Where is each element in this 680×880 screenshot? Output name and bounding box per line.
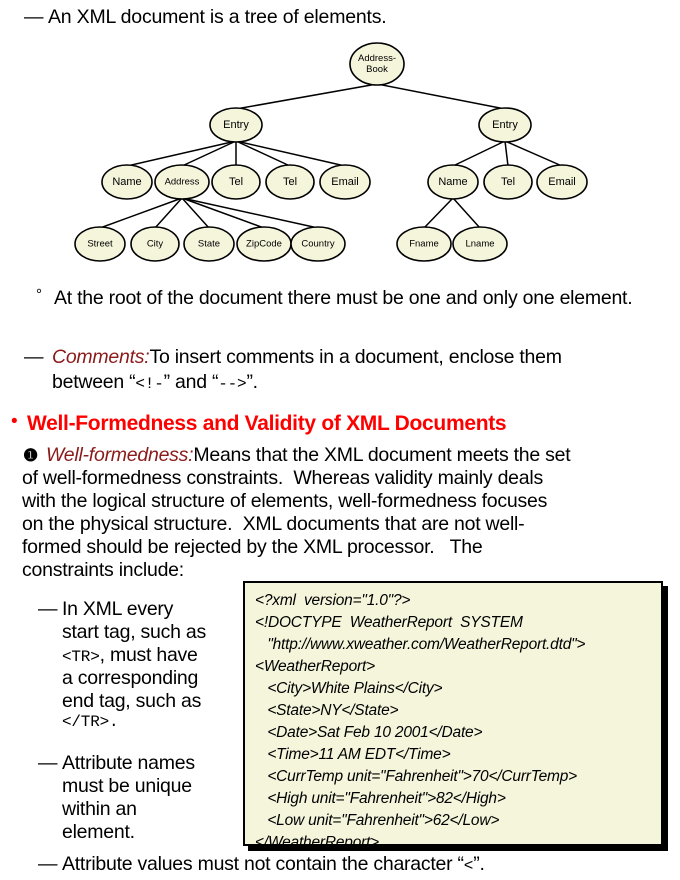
tree-edge	[236, 141, 345, 166]
tree-nodes: Address-BookEntryEntryNameAddressTelTelE…	[75, 43, 587, 261]
final-rule-text-a: Attribute values must not contain the ch…	[62, 853, 464, 875]
tree-node-label: Street	[87, 239, 113, 250]
tree-node-label: Email	[548, 176, 576, 188]
tree-node-tel-right: Tel	[484, 165, 532, 199]
comments-text-2: between “	[52, 371, 135, 393]
well-formedness-label: Well-formedness:	[46, 444, 193, 466]
code-line: <Low unit="Fahrenheit">62</Low>	[255, 810, 655, 832]
constraint-1-line-2: <TR>, must have	[62, 644, 237, 667]
wf-line-4: formed should be rejected by the XML pro…	[22, 536, 676, 559]
disc-bullet-icon: •	[11, 411, 18, 433]
tree-node-label: Address	[165, 177, 200, 188]
wf-line-1: of well-formedness constraints. Whereas …	[22, 467, 676, 490]
comments-text-4: ”.	[246, 371, 257, 393]
tree-node-label: Email	[331, 176, 359, 188]
tree-edge	[453, 198, 480, 228]
well-formedness-paragraph: Well-formedness:Means that the XML docum…	[46, 444, 676, 582]
em-dash-marker-constraint-2: —	[38, 752, 58, 775]
tree-node-street: Street	[75, 227, 125, 261]
final-rule-text-b: ”.	[473, 853, 484, 875]
tree-node-country: Country	[291, 227, 345, 261]
constraint-2-line-3: element.	[62, 821, 237, 844]
tree-edge	[377, 84, 505, 109]
em-dash-marker-final-rule: —	[38, 853, 58, 876]
tree-edge	[236, 141, 290, 166]
code-line: <!DOCTYPE WeatherReport SYSTEM	[255, 612, 655, 634]
tree-node-label: Tel	[501, 176, 515, 188]
xml-tree-diagram: Address-BookEntryEntryNameAddressTelTelE…	[0, 38, 680, 273]
tree-node-entry-left: Entry	[210, 108, 262, 142]
tree-node-entry-right: Entry	[479, 108, 531, 142]
constraint-1-line-4: a corresponding	[62, 667, 237, 690]
start-tag-code: <TR>	[62, 648, 100, 666]
final-rule: Attribute values must not contain the ch…	[62, 853, 485, 876]
tree-node-label: Entry	[223, 119, 249, 131]
tree-edge	[127, 141, 236, 166]
tree-node-label: State	[198, 239, 220, 250]
wf-line-5: constraints include:	[22, 559, 676, 582]
tree-node-lname: Lname	[453, 227, 507, 261]
tree-node-fname: Fname	[397, 227, 451, 261]
code-line: <Time>11 AM EDT</Time>	[255, 744, 655, 766]
constraint-1-line-1: start tag, such as	[62, 621, 237, 644]
em-dash-marker-comments: —	[24, 346, 44, 369]
code-line: <High unit="Fahrenheit">82</High>	[255, 788, 655, 810]
tree-node-label: Tel	[283, 176, 297, 188]
tree-node-state: State	[184, 227, 234, 261]
code-line: <State>NY</State>	[255, 700, 655, 722]
tree-edges	[100, 84, 562, 228]
section-heading: Well-Formedness and Validity of XML Docu…	[27, 412, 506, 436]
tree-edge	[505, 141, 508, 166]
root-rule-text: At the root of the document there must b…	[54, 287, 666, 310]
code-line: <?xml version="1.0"?>	[255, 590, 655, 612]
final-rule-code: <	[464, 857, 473, 875]
wf-line-2: with the logical structure of elements, …	[22, 490, 676, 513]
tree-node-label: Tel	[229, 176, 243, 188]
tree-edge	[182, 141, 236, 166]
tree-node-tel-left-2: Tel	[266, 165, 314, 199]
tree-edge	[505, 141, 562, 166]
tree-node-label: Name	[438, 176, 467, 188]
tree-node-label: Book	[366, 64, 388, 75]
tree-node-name-right: Name	[428, 165, 478, 199]
tree-node-label: ZipCode	[246, 239, 282, 250]
comments-text-3: ” and “	[164, 371, 219, 393]
tree-node-label: Country	[301, 239, 335, 250]
tree-node-label: City	[147, 239, 164, 250]
tree-node-address: Address	[155, 165, 209, 199]
constraint-item-2: Attribute names must be unique within an…	[62, 752, 237, 844]
code-line: <Date>Sat Feb 10 2001</Date>	[255, 722, 655, 744]
code-line: "http://www.xweather.com/WeatherReport.d…	[255, 634, 655, 656]
degree-marker-root-rule: °	[36, 286, 42, 303]
tree-node-label: Address-	[358, 53, 396, 64]
em-dash-marker-constraint-1: —	[38, 598, 58, 621]
tree-node-label: Lname	[465, 239, 494, 250]
constraint-1-line-5: end tag, such as	[62, 690, 237, 713]
tree-edge	[424, 198, 453, 228]
constraint-1-line-3: , must have	[100, 644, 198, 666]
wf-line-0: Means that the XML document meets the se…	[193, 444, 570, 466]
code-line: </WeatherReport>	[255, 832, 655, 854]
tree-edge	[236, 84, 377, 109]
code-box-content: <?xml version="1.0"?><!DOCTYPE WeatherRe…	[245, 583, 661, 858]
tree-node-zipcode: ZipCode	[237, 227, 291, 261]
tree-node-tel-left-1: Tel	[212, 165, 260, 199]
tree-node-name-left: Name	[102, 165, 152, 199]
tree-node-email-right: Email	[537, 165, 587, 199]
xml-example-code-box: <?xml version="1.0"?><!DOCTYPE WeatherRe…	[243, 581, 663, 846]
comments-label: Comments:	[52, 346, 149, 368]
wf-line-3: on the physical structure. XML documents…	[22, 513, 676, 536]
root-rule-label: At the root of the document there must b…	[54, 287, 632, 309]
constraint-1-line-0: In XML every	[62, 598, 237, 621]
tree-edge	[453, 141, 505, 166]
tree-node-label: Entry	[492, 119, 518, 131]
circled-one-marker: ❶	[23, 446, 38, 466]
tree-node-addressbook: Address-Book	[350, 43, 404, 85]
code-line: <City>White Plains</City>	[255, 678, 655, 700]
code-line: <WeatherReport>	[255, 656, 655, 678]
tree-edge	[100, 198, 182, 228]
constraint-1-line-6: </TR>.	[62, 713, 237, 732]
intro-line: An XML document is a tree of elements.	[48, 6, 387, 29]
constraint-2-line-2: within an	[62, 798, 237, 821]
comments-close-delimiter: -->	[218, 375, 246, 393]
constraint-2-line-0: Attribute names	[62, 752, 237, 775]
comments-rule: Comments:To insert comments in a documen…	[52, 346, 672, 394]
constraint-2-line-1: must be unique	[62, 775, 237, 798]
tree-node-email-left: Email	[320, 165, 370, 199]
tree-node-label: Fname	[409, 239, 439, 250]
code-line: <CurrTemp unit="Fahrenheit">70</CurrTemp…	[255, 766, 655, 788]
constraint-item-1: In XML every start tag, such as <TR>, mu…	[62, 598, 237, 732]
end-tag-code: </TR>.	[62, 713, 118, 731]
comments-text-1: To insert comments in a document, enclos…	[149, 346, 561, 368]
tree-node-city: City	[131, 227, 179, 261]
em-dash-marker-intro: —	[24, 6, 44, 29]
tree-node-label: Name	[112, 176, 141, 188]
comments-open-delimiter: <!-	[135, 375, 163, 393]
